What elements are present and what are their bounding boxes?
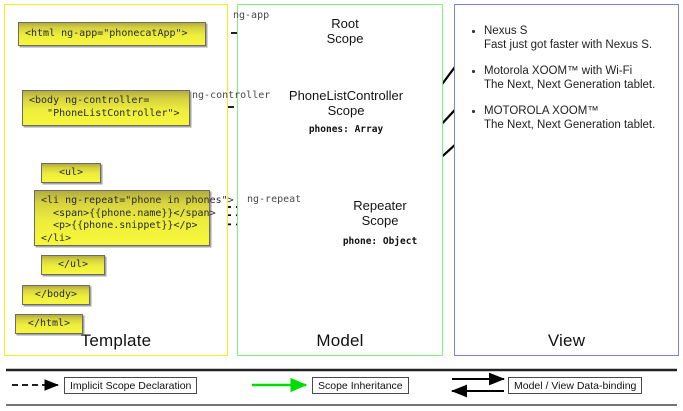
code-box-body-tag: <body ng-controller= "PhoneListControlle… bbox=[22, 90, 190, 126]
code-line: <ul> bbox=[59, 167, 83, 178]
code-box-ul-close: </ul> bbox=[41, 255, 105, 275]
code-box-body-close: </body> bbox=[22, 285, 90, 305]
edge-label-ng-repeat: ng-repeat bbox=[247, 194, 301, 205]
legend-label-implicit-scope-declaration: Implicit Scope Declaration bbox=[64, 377, 197, 394]
bullet-icon bbox=[472, 30, 475, 33]
phone-name: MOTOROLA XOOM™ bbox=[484, 104, 670, 118]
code-box-html-close: </html> bbox=[15, 314, 83, 334]
list-item: Nexus S Fast just got faster with Nexus … bbox=[470, 24, 670, 52]
phone-snippet: Fast just got faster with Nexus S. bbox=[484, 38, 670, 52]
phone-list: Nexus S Fast just got faster with Nexus … bbox=[470, 24, 670, 144]
edge-label-ng-app: ng-app bbox=[233, 10, 269, 21]
phone-name: Nexus S bbox=[484, 24, 670, 38]
diagram-canvas: Template Model View <html ng-app="phonec… bbox=[0, 0, 683, 411]
legend-label-model-view-data-binding: Model / View Data-binding bbox=[508, 377, 642, 394]
code-line: <span>{{phone.name}}</span> bbox=[41, 208, 216, 219]
bullet-icon bbox=[472, 110, 475, 113]
code-box-html-tag: <html ng-app="phonecatApp"> bbox=[18, 22, 206, 46]
edge-label-ng-controller: ng-controller bbox=[192, 90, 270, 101]
code-line: <p>{{phone.snippet}}</p> bbox=[41, 220, 198, 231]
panel-template-label: Template bbox=[5, 331, 227, 351]
panel-view-label: View bbox=[455, 331, 678, 351]
code-line: </html> bbox=[28, 318, 70, 329]
list-item: MOTOROLA XOOM™ The Next, Next Generation… bbox=[470, 104, 670, 132]
list-item: Motorola XOOM™ with Wi-Fi The Next, Next… bbox=[470, 64, 670, 92]
panel-model: Model bbox=[237, 4, 443, 356]
code-line: </li> bbox=[41, 233, 71, 244]
legend: Implicit Scope Declaration Scope Inherit… bbox=[0, 366, 683, 411]
code-line: </ul> bbox=[58, 259, 88, 270]
code-line: </body> bbox=[35, 289, 77, 300]
code-line: <li ng-repeat="phone in phones"> bbox=[41, 195, 234, 206]
phone-snippet: The Next, Next Generation tablet. bbox=[484, 118, 670, 132]
phone-name: Motorola XOOM™ with Wi-Fi bbox=[484, 64, 670, 78]
panel-model-label: Model bbox=[238, 331, 442, 351]
code-box-li-repeat: <li ng-repeat="phone in phones"> <span>{… bbox=[34, 190, 210, 246]
bullet-icon bbox=[472, 70, 475, 73]
code-line: <body ng-controller= bbox=[29, 95, 149, 106]
phone-snippet: The Next, Next Generation tablet. bbox=[484, 78, 670, 92]
code-box-ul-open: <ul> bbox=[41, 163, 101, 183]
legend-label-scope-inheritance: Scope Inheritance bbox=[312, 377, 409, 394]
code-line: <html ng-app="phonecatApp"> bbox=[25, 28, 188, 39]
code-line: "PhoneListController"> bbox=[29, 108, 180, 119]
